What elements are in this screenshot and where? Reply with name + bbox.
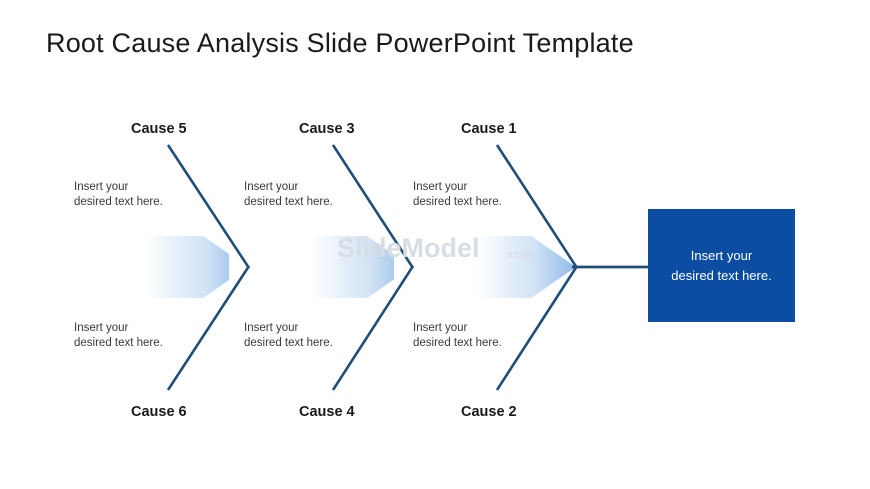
- cause-detail-cause2: Insert your desired text here.: [413, 321, 502, 351]
- cause-detail-cause3: Insert your desired text here.: [244, 180, 333, 210]
- cause-label-cause4: Cause 4: [299, 404, 355, 420]
- cause-label-cause3: Cause 3: [299, 121, 355, 137]
- cause-label-cause2: Cause 2: [461, 404, 517, 420]
- cause-label-cause6: Cause 6: [131, 404, 187, 420]
- cause-detail-cause5: Insert your desired text here.: [74, 180, 163, 210]
- slide-canvas: Root Cause Analysis Slide PowerPoint Tem…: [0, 0, 870, 489]
- cause-detail-cause4: Insert your desired text here.: [244, 321, 333, 351]
- effect-box[interactable]: Insert your desired text here.: [648, 209, 795, 322]
- effect-box-text: Insert your desired text here.: [671, 246, 771, 286]
- cause-detail-cause1: Insert your desired text here.: [413, 180, 502, 210]
- cause-detail-cause6: Insert your desired text here.: [74, 321, 163, 351]
- cause-label-cause1: Cause 1: [461, 121, 517, 137]
- cause-label-cause5: Cause 5: [131, 121, 187, 137]
- chevron-band-1: [60, 236, 248, 298]
